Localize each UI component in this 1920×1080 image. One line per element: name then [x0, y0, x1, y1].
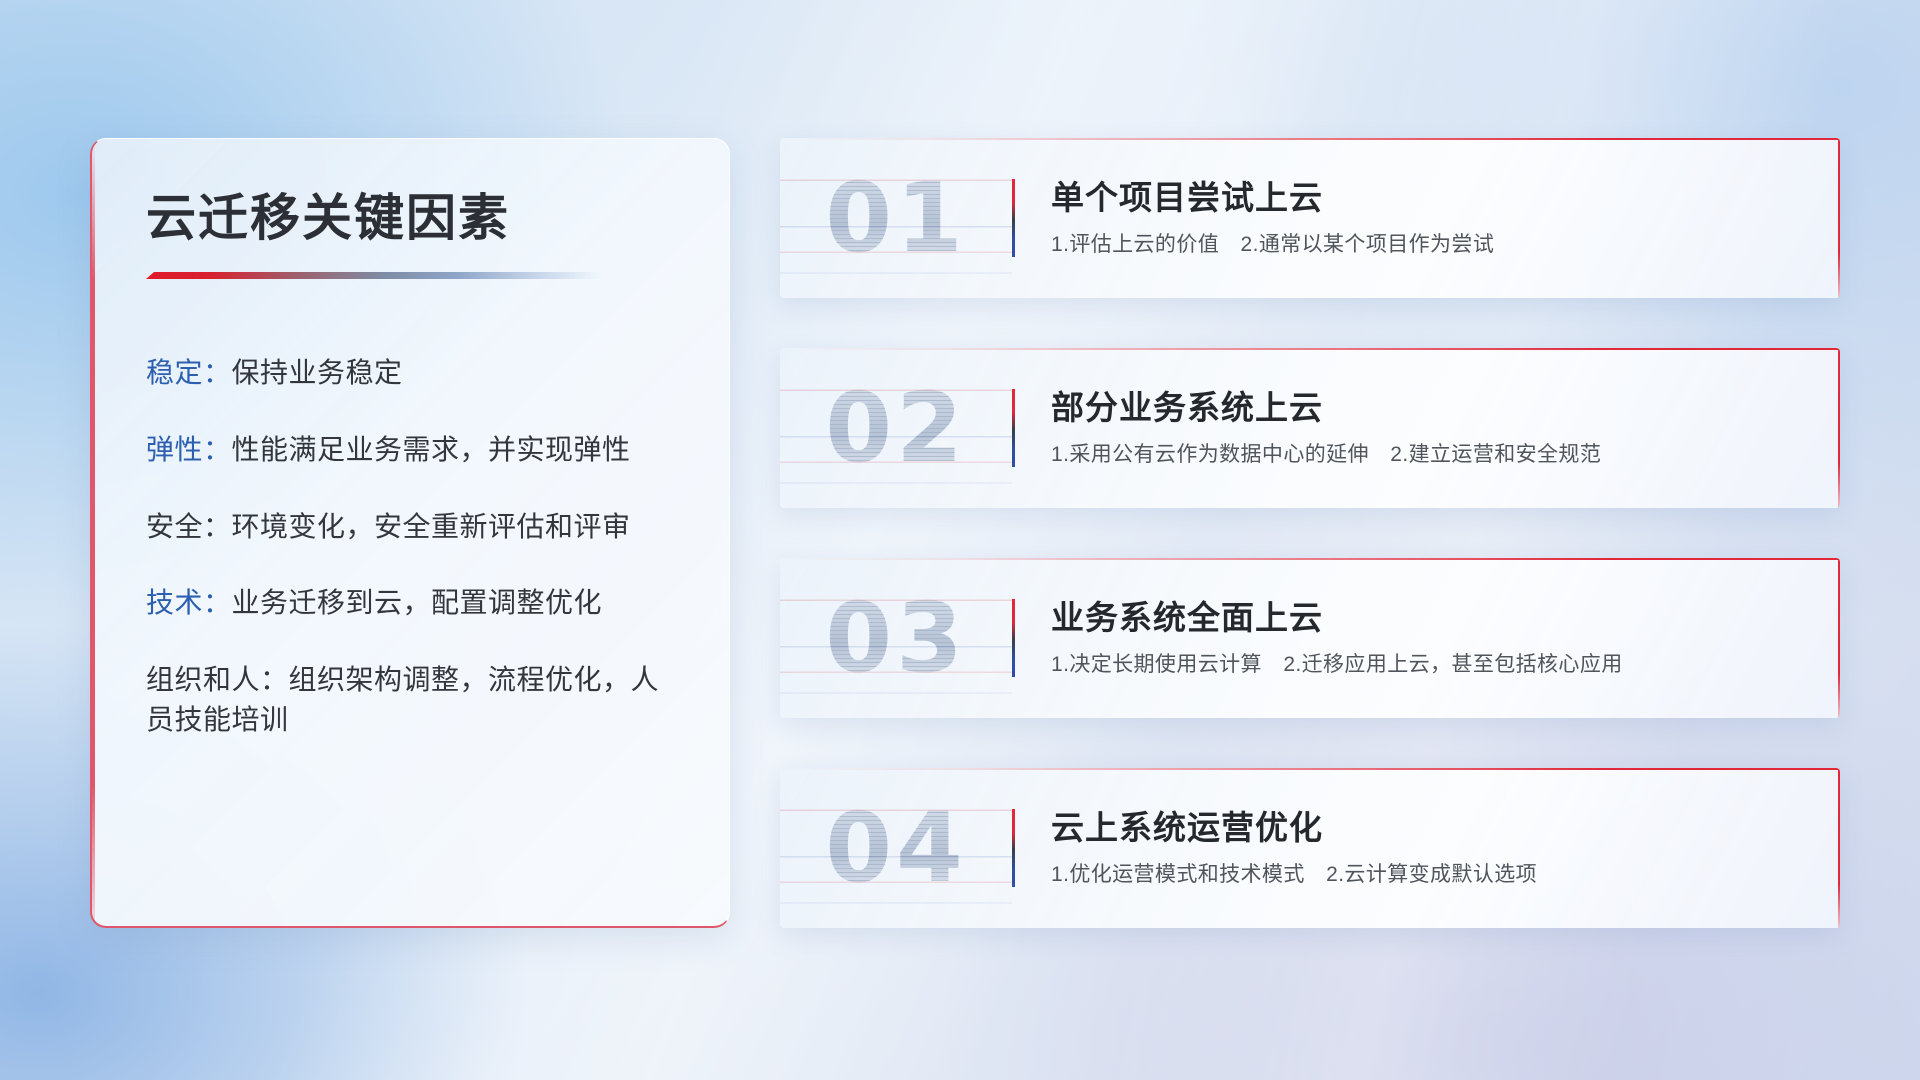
factor-label: 技术： [146, 587, 232, 618]
list-item: 稳定：保持业务稳定 [146, 353, 683, 393]
factor-label: 稳定： [146, 357, 232, 388]
step-number-badge: 01 [780, 138, 1012, 298]
factor-label: 组织和人： [146, 664, 289, 695]
list-item: 技术：业务迁移到云，配置调整优化 [146, 583, 683, 623]
step-title: 部分业务系统上云 [1051, 388, 1812, 428]
key-factors-panel: 云迁移关键因素 稳定：保持业务稳定 弹性：性能满足业务需求，并实现弹性 安全：环… [90, 138, 730, 928]
step-number-text: 03 [825, 590, 967, 686]
slide-canvas: 云迁移关键因素 稳定：保持业务稳定 弹性：性能满足业务需求，并实现弹性 安全：环… [0, 0, 1920, 1080]
step-description: 1.采用公有云作为数据中心的延伸 2.建立运营和安全规范 [1051, 441, 1812, 468]
list-item: 安全：环境变化，安全重新评估和评审 [146, 507, 683, 547]
step-title: 云上系统运营优化 [1051, 808, 1812, 848]
step-number-text: 02 [825, 380, 967, 476]
factor-label: 安全： [146, 511, 232, 542]
list-item: 组织和人：组织架构调整，流程优化，人员技能培训 [146, 660, 683, 740]
title-underline-rule [146, 272, 602, 279]
factor-label: 弹性： [146, 434, 232, 465]
list-item: 弹性：性能满足业务需求，并实现弹性 [146, 430, 683, 470]
page-title: 云迁移关键因素 [146, 191, 729, 246]
step-number-badge: 04 [780, 768, 1012, 928]
migration-steps-list: 01 单个项目尝试上云 1.评估上云的价值 2.通常以某个项目作为尝试 02 部… [780, 138, 1840, 928]
step-card-02[interactable]: 02 部分业务系统上云 1.采用公有云作为数据中心的延伸 2.建立运营和安全规范 [780, 348, 1840, 508]
factor-text: 性能满足业务需求，并实现弹性 [232, 434, 631, 465]
step-body: 单个项目尝试上云 1.评估上云的价值 2.通常以某个项目作为尝试 [1015, 178, 1840, 259]
step-description: 1.优化运营模式和技术模式 2.云计算变成默认选项 [1051, 861, 1812, 888]
factor-text: 业务迁移到云，配置调整优化 [232, 587, 603, 618]
key-factors-list: 稳定：保持业务稳定 弹性：性能满足业务需求，并实现弹性 安全：环境变化，安全重新… [92, 353, 729, 740]
step-description: 1.评估上云的价值 2.通常以某个项目作为尝试 [1051, 231, 1812, 258]
factor-text: 环境变化，安全重新评估和评审 [232, 511, 631, 542]
step-number-badge: 02 [780, 348, 1012, 508]
step-title: 业务系统全面上云 [1051, 598, 1812, 638]
step-body: 业务系统全面上云 1.决定长期使用云计算 2.迁移应用上云，甚至包括核心应用 [1015, 598, 1840, 679]
step-number-text: 01 [825, 170, 967, 266]
step-title: 单个项目尝试上云 [1051, 178, 1812, 218]
step-card-03[interactable]: 03 业务系统全面上云 1.决定长期使用云计算 2.迁移应用上云，甚至包括核心应… [780, 558, 1840, 718]
step-card-04[interactable]: 04 云上系统运营优化 1.优化运营模式和技术模式 2.云计算变成默认选项 [780, 768, 1840, 928]
step-body: 部分业务系统上云 1.采用公有云作为数据中心的延伸 2.建立运营和安全规范 [1015, 388, 1840, 469]
step-number-badge: 03 [780, 558, 1012, 718]
step-description: 1.决定长期使用云计算 2.迁移应用上云，甚至包括核心应用 [1051, 651, 1812, 678]
step-card-01[interactable]: 01 单个项目尝试上云 1.评估上云的价值 2.通常以某个项目作为尝试 [780, 138, 1840, 298]
step-body: 云上系统运营优化 1.优化运营模式和技术模式 2.云计算变成默认选项 [1015, 808, 1840, 889]
factor-text: 保持业务稳定 [232, 357, 403, 388]
step-number-text: 04 [825, 800, 967, 896]
